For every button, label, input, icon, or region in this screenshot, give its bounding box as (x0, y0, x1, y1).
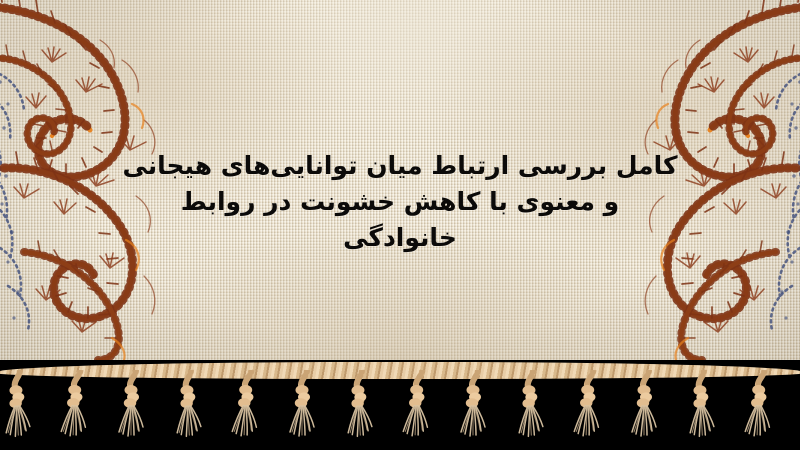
tassel-fringe (0, 360, 800, 450)
tassel (346, 369, 380, 450)
title-line-2: و معنوی با کاهش خشونت در روابط (0, 184, 800, 220)
tassel (404, 370, 437, 450)
tassel (233, 370, 266, 450)
title-line-1: کامل بررسی ارتباط میان توانایی‌های هیجان… (0, 148, 800, 184)
tassel (175, 369, 209, 450)
page-title: کامل بررسی ارتباط میان توانایی‌های هیجان… (0, 148, 800, 256)
tassel (688, 369, 722, 450)
tassel (746, 370, 779, 450)
tassel (633, 370, 663, 450)
tassel (62, 370, 95, 450)
tassel (291, 370, 321, 450)
tassel (462, 370, 492, 450)
title-card: کامل بررسی ارتباط میان توانایی‌های هیجان… (0, 0, 800, 450)
tassel (4, 369, 38, 450)
tassel (575, 370, 608, 450)
tassel (517, 369, 551, 450)
title-line-3: خانوادگی (0, 220, 800, 256)
tassel (120, 370, 150, 450)
